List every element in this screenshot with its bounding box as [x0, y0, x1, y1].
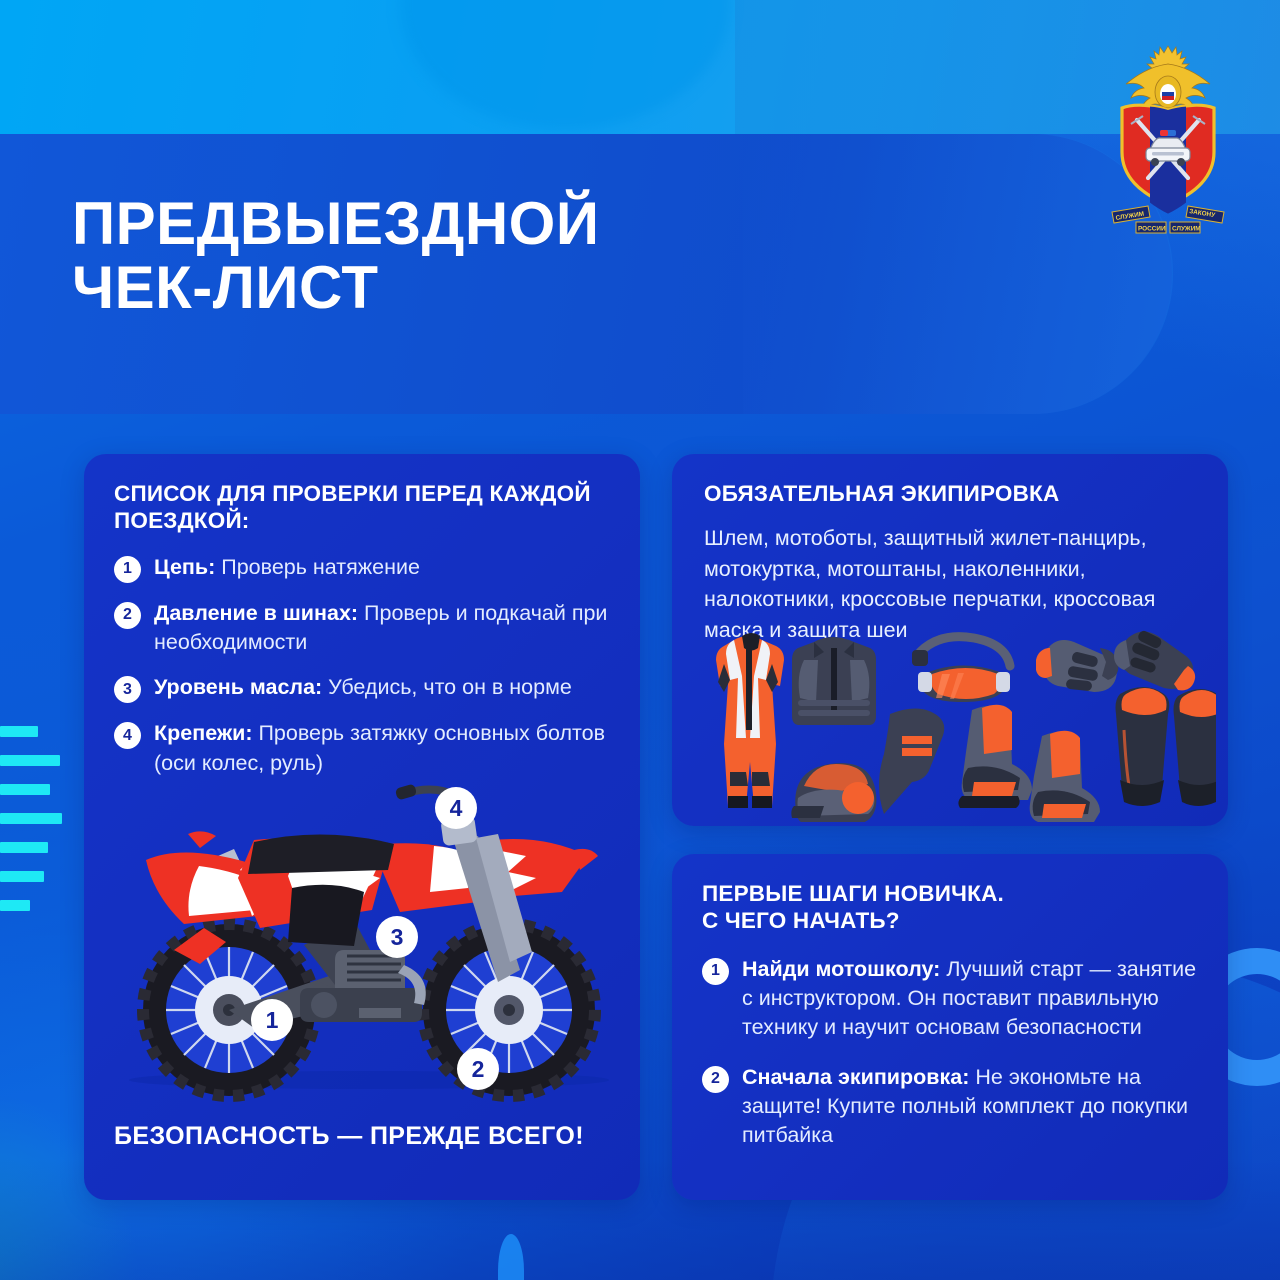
list-item-text: Цепь: Проверь натяжение	[154, 553, 420, 582]
racing-suit-icon	[716, 633, 784, 808]
checklist-heading-line2: ПОЕЗДКОЙ:	[114, 507, 614, 534]
list-item: 1 Цепь: Проверь натяжение	[114, 553, 614, 583]
item-number-badge: 2	[114, 602, 141, 629]
list-item: 2 Сначала экипировка: Не экономьте на за…	[702, 1063, 1204, 1151]
first-steps-heading-line2: С ЧЕГО НАЧАТЬ?	[702, 907, 1204, 934]
top-band-blob	[400, 0, 730, 130]
item-number-badge: 2	[702, 1066, 729, 1093]
first-steps-heading: ПЕРВЫЕ ШАГИ НОВИЧКА. С ЧЕГО НАЧАТЬ?	[702, 880, 1204, 935]
glove-left-icon	[1036, 640, 1118, 692]
bike-callout-4: 4	[450, 795, 463, 821]
knee-pad-right-icon	[1174, 689, 1217, 806]
cyan-bar-decoration	[0, 726, 64, 929]
item-number-badge: 1	[702, 958, 729, 985]
list-item-term: Крепежи:	[154, 721, 253, 745]
list-item: 2 Давление в шинах: Проверь и подкачай п…	[114, 599, 614, 657]
first-steps-content: ПЕРВЫЕ ШАГИ НОВИЧКА. С ЧЕГО НАЧАТЬ? 1 На…	[702, 880, 1204, 1166]
checklist-heading: СПИСОК ДЛЯ ПРОВЕРКИ ПЕРЕД КАЖДОЙ ПОЕЗДКО…	[114, 480, 614, 535]
equipment-heading: ОБЯЗАТЕЛЬНАЯ ЭКИПИРОВКА	[704, 480, 1204, 507]
knee-pad-left-icon	[1116, 687, 1170, 806]
double-headed-eagle-icon	[1126, 46, 1210, 111]
list-item-term: Цепь:	[154, 555, 215, 579]
chest-protector-icon	[792, 637, 876, 725]
page-title-line2: ЧЕК-ЛИСТ	[72, 256, 599, 320]
list-item-term: Давление в шинах:	[154, 601, 358, 625]
list-item-term: Найди мотошколу:	[742, 957, 940, 981]
list-item: 3 Уровень масла: Убедись, что он в норме	[114, 673, 614, 703]
page-title: ПРЕДВЫЕЗДНОЙ ЧЕК-ЛИСТ	[72, 192, 599, 320]
checklist-items: 1 Цепь: Проверь натяжение 2 Давление в ш…	[114, 553, 614, 778]
bike-callout-2: 2	[472, 1056, 485, 1082]
list-item-term: Уровень масла:	[154, 675, 322, 699]
checklist-content: СПИСОК ДЛЯ ПРОВЕРКИ ПЕРЕД КАЖДОЙ ПОЕЗДКО…	[114, 480, 614, 794]
item-number-badge: 3	[114, 676, 141, 703]
boot-left-icon	[958, 705, 1032, 808]
list-item-text: Давление в шинах: Проверь и подкачай при…	[154, 599, 614, 657]
dirt-bike-illustration: 1 2 3 4	[104, 780, 634, 1110]
list-item-body: Проверь натяжение	[215, 555, 420, 579]
gibdd-emblem: СЛУЖИМ ЗАКОНУ РОССИИ СЛУЖИМ	[1092, 38, 1244, 243]
list-item-term: Сначала экипировка:	[742, 1065, 969, 1089]
bike-callout-1: 1	[266, 1007, 279, 1033]
list-item-text: Уровень масла: Убедись, что он в норме	[154, 673, 572, 702]
glove-right-icon	[1114, 629, 1195, 690]
first-steps-card: ПЕРВЫЕ ШАГИ НОВИЧКА. С ЧЕГО НАЧАТЬ? 1 На…	[672, 854, 1228, 1200]
list-item: 1 Найди мотошколу: Лучший старт — заняти…	[702, 955, 1204, 1043]
ribbon-bottom-left: РОССИИ	[1138, 226, 1166, 233]
page-title-line1: ПРЕДВЫЕЗДНОЙ	[72, 192, 599, 256]
list-item-text: Сначала экипировка: Не экономьте на защи…	[742, 1063, 1204, 1151]
helmet-icon	[791, 763, 876, 822]
item-number-badge: 4	[114, 722, 141, 749]
first-steps-items: 1 Найди мотошколу: Лучший старт — заняти…	[702, 955, 1204, 1150]
equipment-content: ОБЯЗАТЕЛЬНАЯ ЭКИПИРОВКА Шлем, мотоботы, …	[704, 480, 1204, 646]
gibdd-emblem-svg: СЛУЖИМ ЗАКОНУ РОССИИ СЛУЖИМ	[1092, 38, 1244, 243]
neck-brace-icon	[879, 708, 944, 814]
list-item-body: Убедись, что он в норме	[322, 675, 572, 699]
boot-right-icon	[1030, 731, 1100, 822]
equipment-illustration	[696, 626, 1216, 822]
ribbon-bottom-right: СЛУЖИМ	[1172, 226, 1201, 233]
item-number-badge: 1	[114, 556, 141, 583]
bike-callout-3: 3	[391, 924, 404, 950]
first-steps-heading-line1: ПЕРВЫЕ ШАГИ НОВИЧКА.	[702, 880, 1204, 907]
list-item-text: Найди мотошколу: Лучший старт — занятие …	[742, 955, 1204, 1043]
list-item: 4 Крепежи: Проверь затяжку основных болт…	[114, 719, 614, 777]
safety-slogan: БЕЗОПАСНОСТЬ — ПРЕЖДЕ ВСЕГО!	[114, 1122, 584, 1151]
shield-icon	[1122, 105, 1214, 213]
goggles-icon	[912, 637, 1010, 702]
list-item-text: Крепежи: Проверь затяжку основных болтов…	[154, 719, 614, 777]
checklist-heading-line1: СПИСОК ДЛЯ ПРОВЕРКИ ПЕРЕД КАЖДОЙ	[114, 480, 614, 507]
top-band	[0, 0, 1280, 134]
